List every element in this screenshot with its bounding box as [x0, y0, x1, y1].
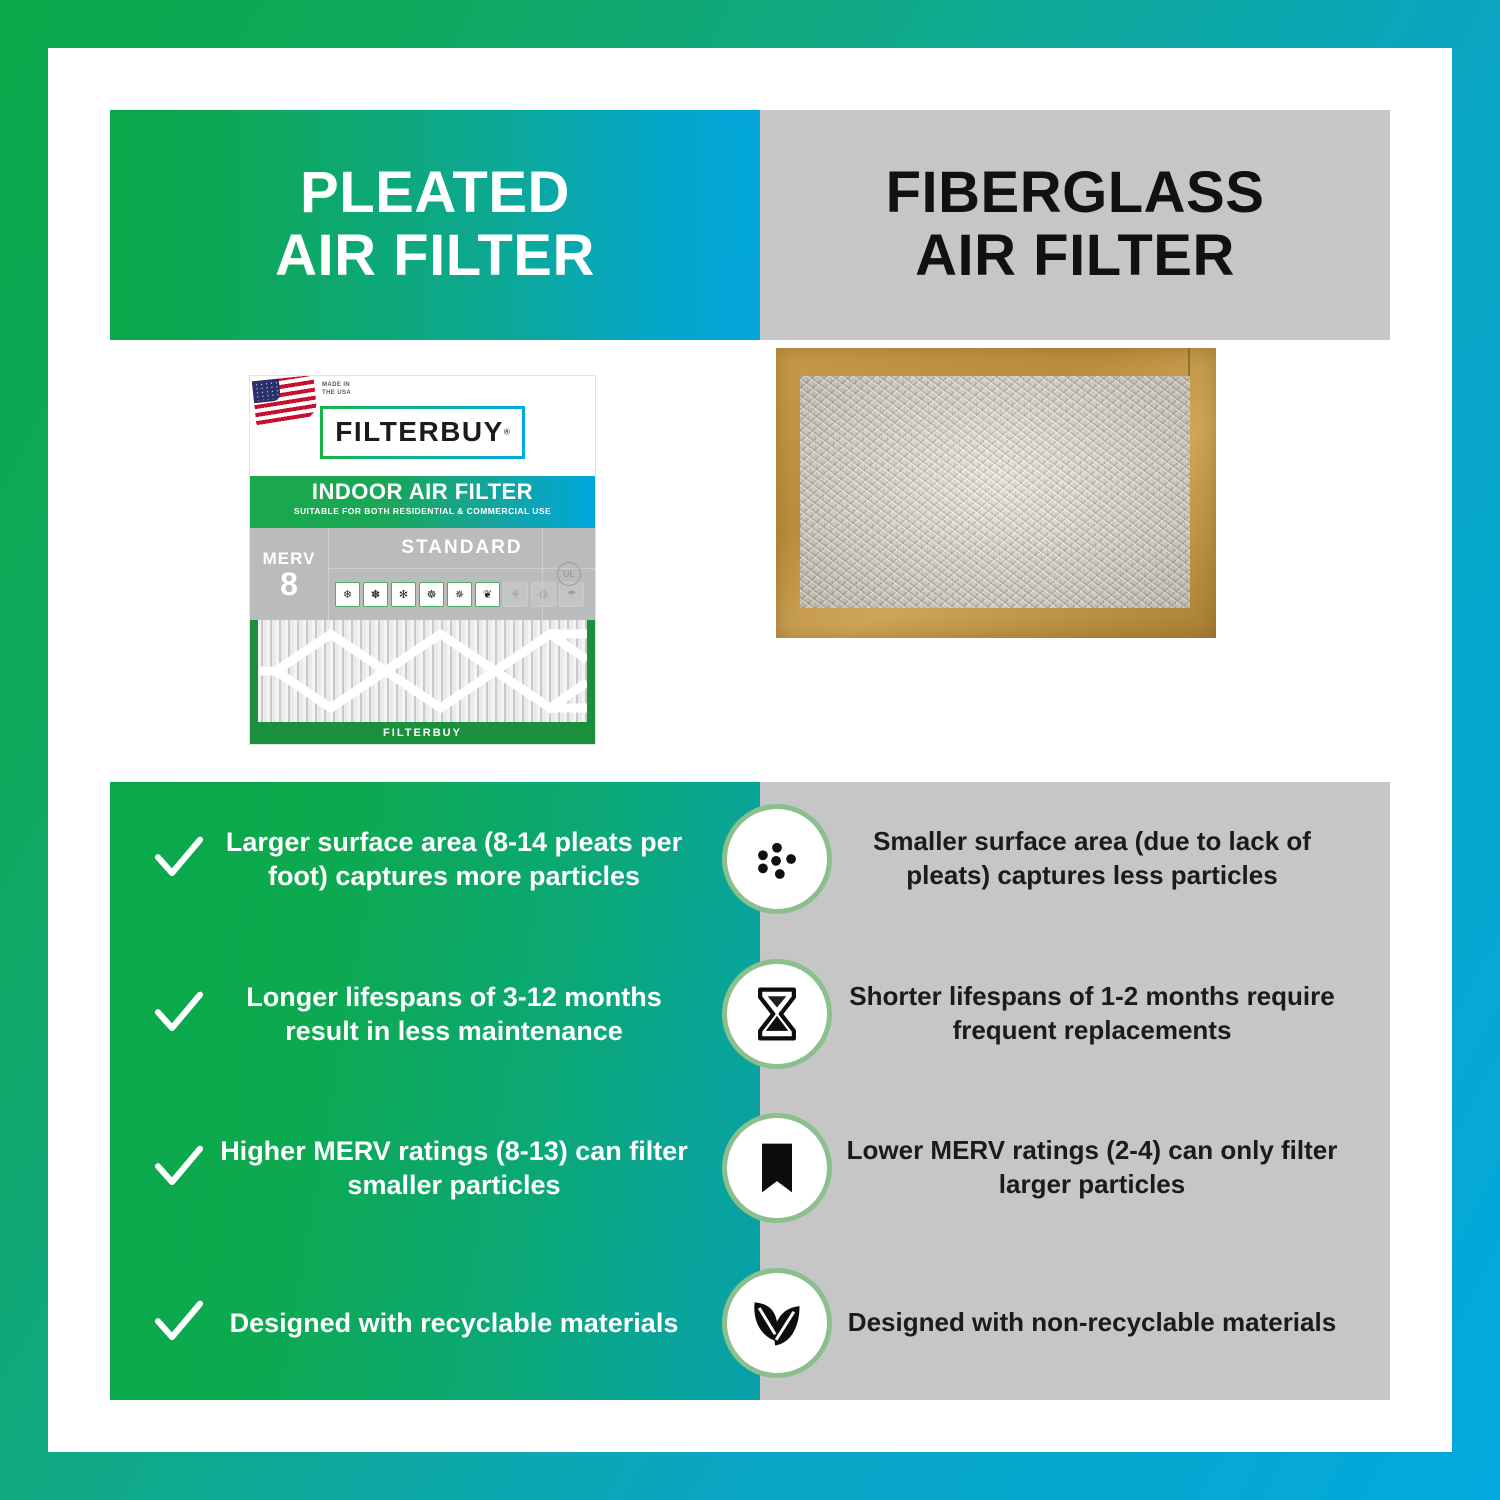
fiberglass-mesh	[800, 376, 1190, 608]
row-right-text: Lower MERV ratings (2-4) can only filter…	[760, 1134, 1390, 1202]
row-left-cell: Longer lifespans of 3-12 months result i…	[110, 980, 760, 1048]
package-band-subtitle: SUITABLE FOR BOTH RESIDENTIAL & COMMERCI…	[250, 506, 595, 516]
merv-badge: MERV 8	[250, 528, 329, 620]
bookmark-icon	[727, 1118, 827, 1218]
comparison-row: Longer lifespans of 3-12 months result i…	[110, 937, 1390, 1092]
package-spec-band: MERV 8 STANDARD ❄ ✽ ✻ ☸ ✵ ❦	[250, 528, 595, 620]
registered-mark: ®	[504, 427, 510, 436]
row-left-cell: Designed with recyclable materials	[110, 1295, 760, 1351]
merv-value: 8	[280, 569, 298, 599]
ul-certification-badge: UL	[542, 528, 595, 620]
header-pleated: PLEATED AIR FILTER	[110, 110, 760, 340]
fiberglass-product-cell	[760, 340, 1390, 780]
checkmark-icon	[144, 831, 214, 887]
lint-icon: ✵	[447, 582, 472, 607]
comparison-section: Larger surface area (8-14 pleats per foo…	[110, 782, 1390, 1400]
comparison-row: Designed with recyclable materials Desig…	[110, 1246, 1390, 1401]
mold-icon: ☸	[419, 582, 444, 607]
package-indoor-band: INDOOR AIR FILTER SUITABLE FOR BOTH RESI…	[250, 476, 595, 528]
row-left-text: Higher MERV ratings (8-13) can filter sm…	[214, 1134, 694, 1202]
header-fiberglass: FIBERGLASS AIR FILTER	[760, 110, 1390, 340]
pleated-product-cell: MADE IN THE USA FILTERBUY® INDOOR AIR FI…	[110, 340, 760, 780]
package-band-title: INDOOR AIR FILTER	[250, 478, 595, 506]
smoke-icon: ⚘	[503, 582, 528, 607]
product-images-row: MADE IN THE USA FILTERBUY® INDOOR AIR FI…	[110, 340, 1390, 780]
pollen-icon: ✻	[391, 582, 416, 607]
checkmark-icon	[144, 1295, 214, 1351]
particles-icon	[727, 809, 827, 909]
ul-logo-icon: UL	[557, 562, 581, 586]
row-left-text: Designed with recyclable materials	[214, 1306, 694, 1340]
checkmark-icon	[144, 986, 214, 1042]
filterbuy-wordmark: FILTERBUY	[335, 416, 504, 447]
row-left-cell: Higher MERV ratings (8-13) can filter sm…	[110, 1134, 760, 1202]
leaf-icon	[727, 1273, 827, 1373]
header-row: PLEATED AIR FILTER FIBERGLASS AIR FILTER	[110, 110, 1390, 340]
checkmark-icon	[144, 1140, 214, 1196]
package-brand-area: MADE IN THE USA FILTERBUY®	[250, 376, 595, 476]
filterbuy-package-image: MADE IN THE USA FILTERBUY® INDOOR AIR FI…	[250, 376, 595, 744]
filterbuy-logo: FILTERBUY®	[320, 406, 524, 459]
row-right-text: Shorter lifespans of 1-2 months require …	[760, 980, 1390, 1048]
comparison-row: Higher MERV ratings (8-13) can filter sm…	[110, 1091, 1390, 1246]
fiberglass-filter-image	[776, 348, 1216, 638]
comparison-card: PLEATED AIR FILTER FIBERGLASS AIR FILTER…	[110, 110, 1390, 1400]
made-in-usa-label: MADE IN THE USA	[322, 382, 351, 397]
wire-support-grid	[258, 620, 587, 722]
header-fiberglass-title: FIBERGLASS AIR FILTER	[886, 162, 1265, 287]
header-pleated-title: PLEATED AIR FILTER	[275, 162, 595, 287]
pet-dander-icon: ❦	[475, 582, 500, 607]
usa-flag-icon	[252, 376, 318, 427]
row-right-text: Designed with non-recyclable materials	[760, 1306, 1390, 1340]
row-left-text: Longer lifespans of 3-12 months result i…	[214, 980, 694, 1048]
hourglass-icon	[727, 964, 827, 1064]
dust-mites-icon: ✽	[363, 582, 388, 607]
grade-label: STANDARD	[401, 537, 522, 559]
row-left-text: Larger surface area (8-14 pleats per foo…	[214, 825, 694, 893]
row-left-cell: Larger surface area (8-14 pleats per foo…	[110, 825, 760, 893]
frame-seam	[1188, 348, 1190, 378]
package-footer-brand: FILTERBUY	[250, 722, 595, 744]
comparison-row: Larger surface area (8-14 pleats per foo…	[110, 782, 1390, 937]
row-right-text: Smaller surface area (due to lack of ple…	[760, 825, 1390, 893]
comparison-rows: Larger surface area (8-14 pleats per foo…	[110, 782, 1390, 1400]
dust-lint-icon: ❄	[335, 582, 360, 607]
pleated-media-photo: FILTERBUY	[250, 620, 595, 744]
